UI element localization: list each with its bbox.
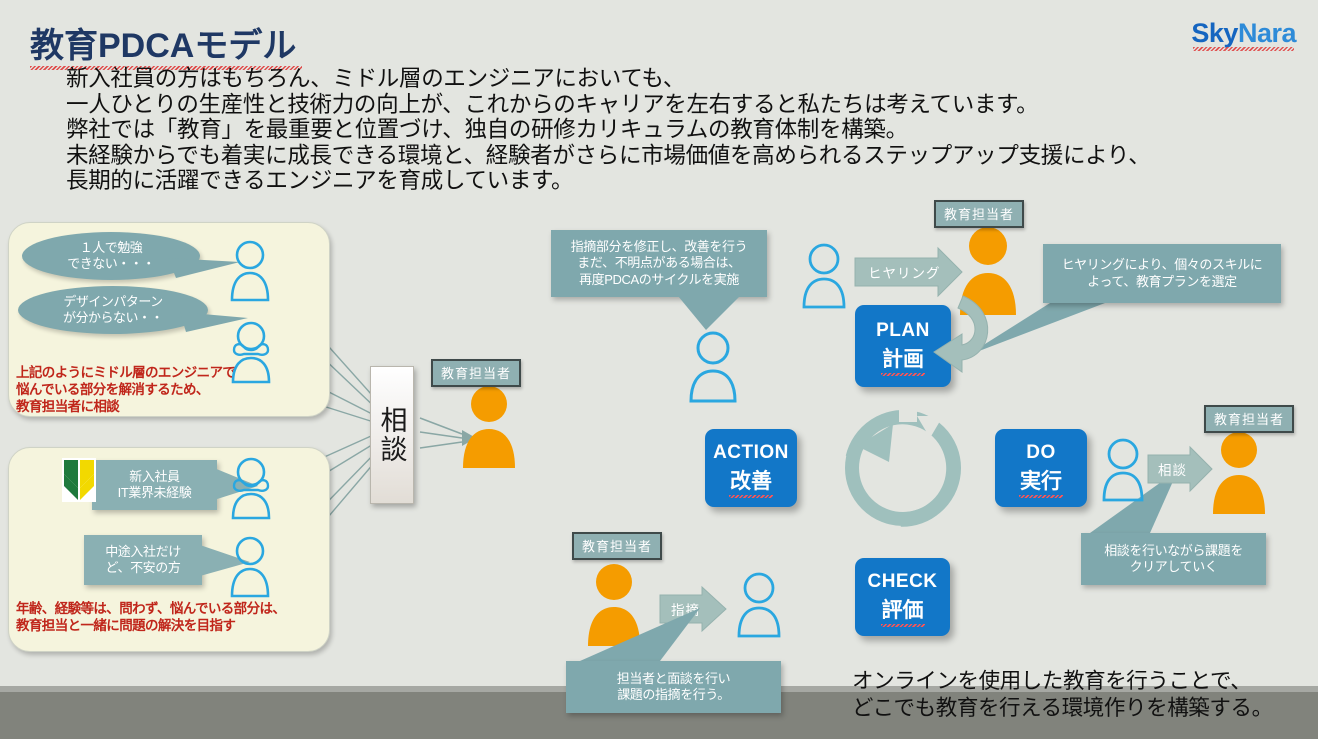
pdca-box-plan[interactable]: PLAN 計画 [855, 305, 951, 387]
pdca-check-en: CHECK [867, 571, 937, 593]
consultation-chip-label: 相談 [373, 406, 412, 464]
person-icon-trainer-plan [955, 225, 1021, 317]
pdca-action-underline [729, 495, 773, 498]
bubble-mid-career: 中途入社だけ ど、不安の方 [84, 535, 202, 585]
brand-logo-part2: Nara [1238, 18, 1296, 48]
pdca-plan-underline [881, 373, 925, 376]
bubble-new-employee: 新入社員 IT業界未経験 [92, 460, 217, 510]
person-icon-engineer-plan [800, 243, 848, 309]
person-icon-trainer-do [1208, 430, 1270, 516]
pdca-box-check[interactable]: CHECK 評価 [855, 558, 950, 636]
callout-action-revise: 指摘部分を修正し、改善を行う まだ、不明点がある場合は、 再度PDCAのサイクル… [551, 230, 767, 297]
role-label-check-trainer: 教育担当者 [572, 532, 662, 560]
callout-check-interview: 担当者と面談を行い 課題の指摘を行う。 [566, 661, 781, 713]
logo-spellcheck-underline [1193, 47, 1294, 51]
slide-canvas: 教育PDCAモデル SkyNara 新入社員の方はもちろん、ミドル層のエンジニア… [0, 0, 1318, 739]
person-icon-engineer-check [735, 572, 783, 638]
pdca-action-jp: 改善 [730, 465, 772, 495]
note-newcomers: 年齢、経験等は、問わず、悩んでいる部分は、 教育担当と一緒に問題の解決を目指す [16, 600, 285, 634]
pdca-plan-jp-text: 計画 [882, 348, 924, 371]
pdca-do-underline [1019, 495, 1063, 498]
pdca-do-jp: 実行 [1020, 465, 1062, 495]
bubble-design-pattern: デザインパターン が分からない・・ [18, 286, 208, 334]
pdca-check-jp: 評価 [882, 594, 924, 624]
pdca-box-action[interactable]: ACTION 改善 [705, 429, 797, 507]
callout-plan-selection: ヒヤリングにより、個々のスキルに よって、教育プランを選定 [1043, 244, 1281, 303]
pdca-action-en: ACTION [713, 442, 789, 464]
page-title-text: 教育PDCAモデル [30, 27, 296, 65]
person-icon-engineer-1 [228, 240, 272, 302]
role-label-plan-trainer: 教育担当者 [934, 200, 1024, 228]
note-midlevel: 上記のようにミドル層のエンジニアで 悩んでいる部分を解消するため、 教育担当者に… [16, 364, 235, 415]
person-icon-engineer-do [1100, 438, 1146, 502]
arrow-pointout-label: 指摘 [671, 599, 700, 619]
arrow-pointout-label-wrap: 指摘 [665, 599, 709, 619]
page-title: 教育PDCAモデル [30, 18, 296, 67]
role-label-center-trainer: 教育担当者 [431, 359, 521, 387]
pdca-plan-en: PLAN [876, 320, 930, 342]
role-label-do-trainer: 教育担当者 [1204, 405, 1294, 433]
beginner-mark-icon [62, 458, 96, 507]
pdca-plan-jp: 計画 [882, 343, 924, 373]
brand-logo-part1: Sky [1191, 18, 1238, 48]
arrow-consult-do-label-wrap: 相談 [1152, 459, 1196, 479]
person-icon-engineer-2 [228, 320, 274, 384]
arrow-hearing-label-wrap: ヒヤリング [862, 262, 942, 282]
pdca-box-do[interactable]: DO 実行 [995, 429, 1087, 507]
pdca-do-en: DO [1026, 442, 1056, 464]
person-icon-newcomer-2 [228, 536, 272, 598]
callout-do-clear-issues: 相談を行いながら課題を クリアしていく [1081, 533, 1266, 585]
brand-logo: SkyNara [1191, 18, 1296, 49]
person-icon-trainer-check [583, 562, 645, 648]
person-icon-newcomer-1 [228, 456, 274, 520]
intro-paragraph: 新入社員の方はもちろん、ミドル層のエンジニアにおいても、 一人ひとりの生産性と技… [66, 66, 1150, 194]
person-icon-engineer-action [686, 331, 740, 403]
pdca-do-jp-text: 実行 [1020, 470, 1062, 493]
bubble-cannot-study-alone: １人で勉強 できない・・・ [22, 232, 200, 280]
consultation-chip: 相談 [370, 366, 414, 504]
arrow-consult-do-label: 相談 [1158, 459, 1187, 479]
pdca-action-jp-text: 改善 [730, 470, 772, 493]
person-icon-trainer-center [458, 384, 520, 470]
pdca-check-jp-text: 評価 [882, 599, 924, 622]
bottom-note: オンラインを使用した教育を行うことで、 どこでも教育を行える環境作りを構築する。 [852, 668, 1273, 722]
arrow-hearing-label: ヒヤリング [868, 262, 941, 282]
pdca-check-underline [881, 624, 925, 627]
